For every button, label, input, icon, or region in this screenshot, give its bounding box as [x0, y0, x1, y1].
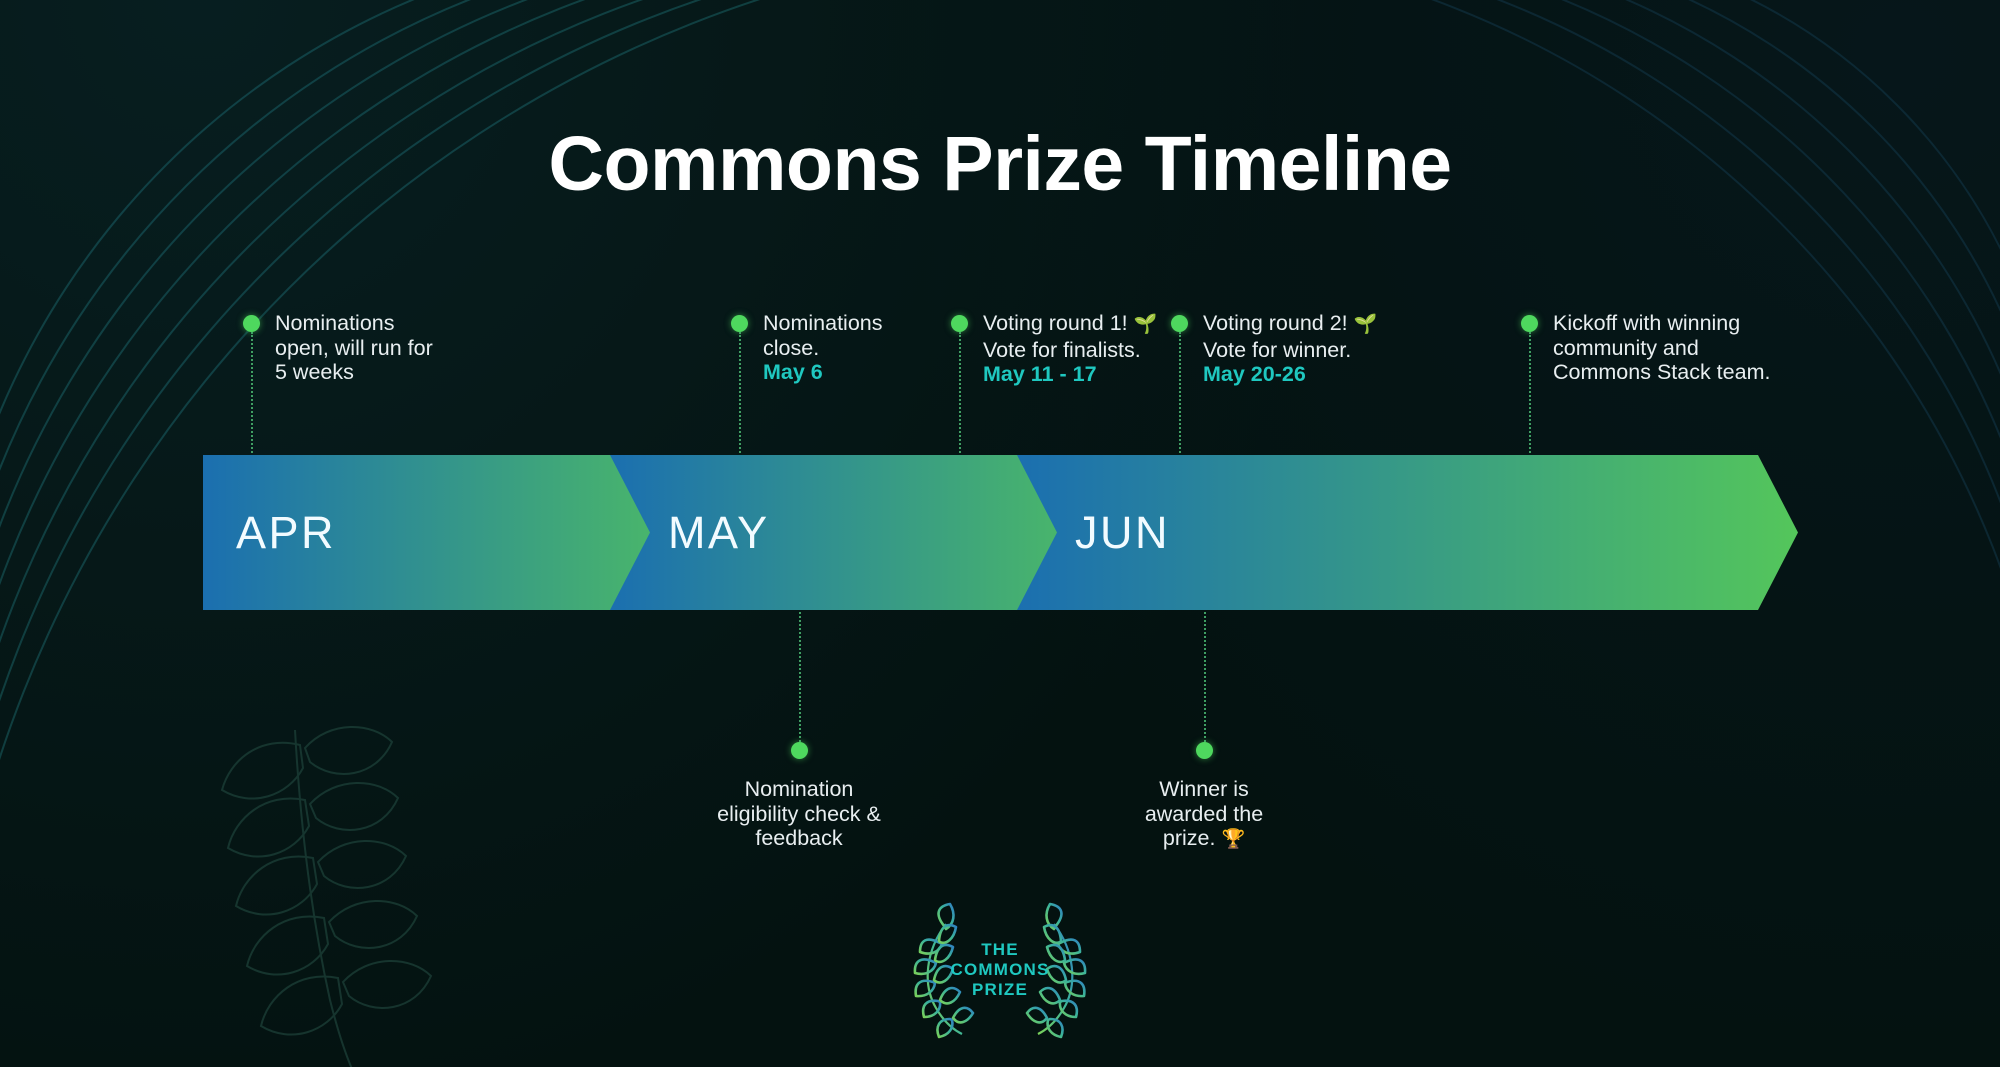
- month-label: MAY: [668, 507, 770, 559]
- marker-label: Voting round 1! 🌱 Vote for finalists. Ma…: [983, 311, 1157, 387]
- marker-dot-icon: [731, 315, 748, 332]
- marker-label: Kickoff with winning community and Commo…: [1553, 311, 1770, 385]
- marker-dot-icon: [951, 315, 968, 332]
- connector-line: [251, 332, 253, 472]
- marker-dot-icon: [791, 742, 808, 759]
- commons-prize-logo: THE COMMONS PRIZE: [910, 900, 1090, 1040]
- timeline-infographic: Commons Prize Timeline Nominations open,…: [0, 0, 2000, 1067]
- marker-label: Winner is awarded the prize. 🏆: [1145, 777, 1263, 853]
- marker-dot-icon: [1171, 315, 1188, 332]
- month-segment-jun[interactable]: JUN: [1017, 455, 1798, 610]
- marker-dot-icon: [1521, 315, 1538, 332]
- seedling-icon: 🌱: [1354, 314, 1378, 335]
- marker-date: May 6: [763, 360, 883, 385]
- connector-line: [739, 332, 741, 472]
- marker-date: May 20-26: [1203, 362, 1377, 387]
- connector-line: [1179, 332, 1181, 472]
- connector-line: [959, 332, 961, 472]
- connector-line: [799, 612, 801, 742]
- connector-line: [1529, 332, 1531, 472]
- marker-dot-icon: [1196, 742, 1213, 759]
- trophy-icon: 🏆: [1221, 829, 1245, 850]
- logo-wordmark: THE COMMONS PRIZE: [910, 900, 1090, 1040]
- marker-label: Voting round 2! 🌱 Vote for winner. May 2…: [1203, 311, 1377, 387]
- marker-label: Nomination eligibility check & feedback: [717, 777, 881, 851]
- connector-line: [1204, 612, 1206, 742]
- month-label: APR: [236, 507, 336, 559]
- marker-dot-icon: [243, 315, 260, 332]
- month-label: JUN: [1075, 507, 1170, 559]
- laurel-watermark-icon: [222, 727, 431, 1067]
- marker-label: Nominations close. May 6: [763, 311, 883, 385]
- marker-label: Nominations open, will run for 5 weeks: [275, 311, 433, 385]
- marker-date: May 11 - 17: [983, 362, 1157, 387]
- page-title: Commons Prize Timeline: [0, 120, 2000, 209]
- seedling-icon: 🌱: [1134, 314, 1158, 335]
- timeline-bar: APR MAY: [203, 455, 1798, 610]
